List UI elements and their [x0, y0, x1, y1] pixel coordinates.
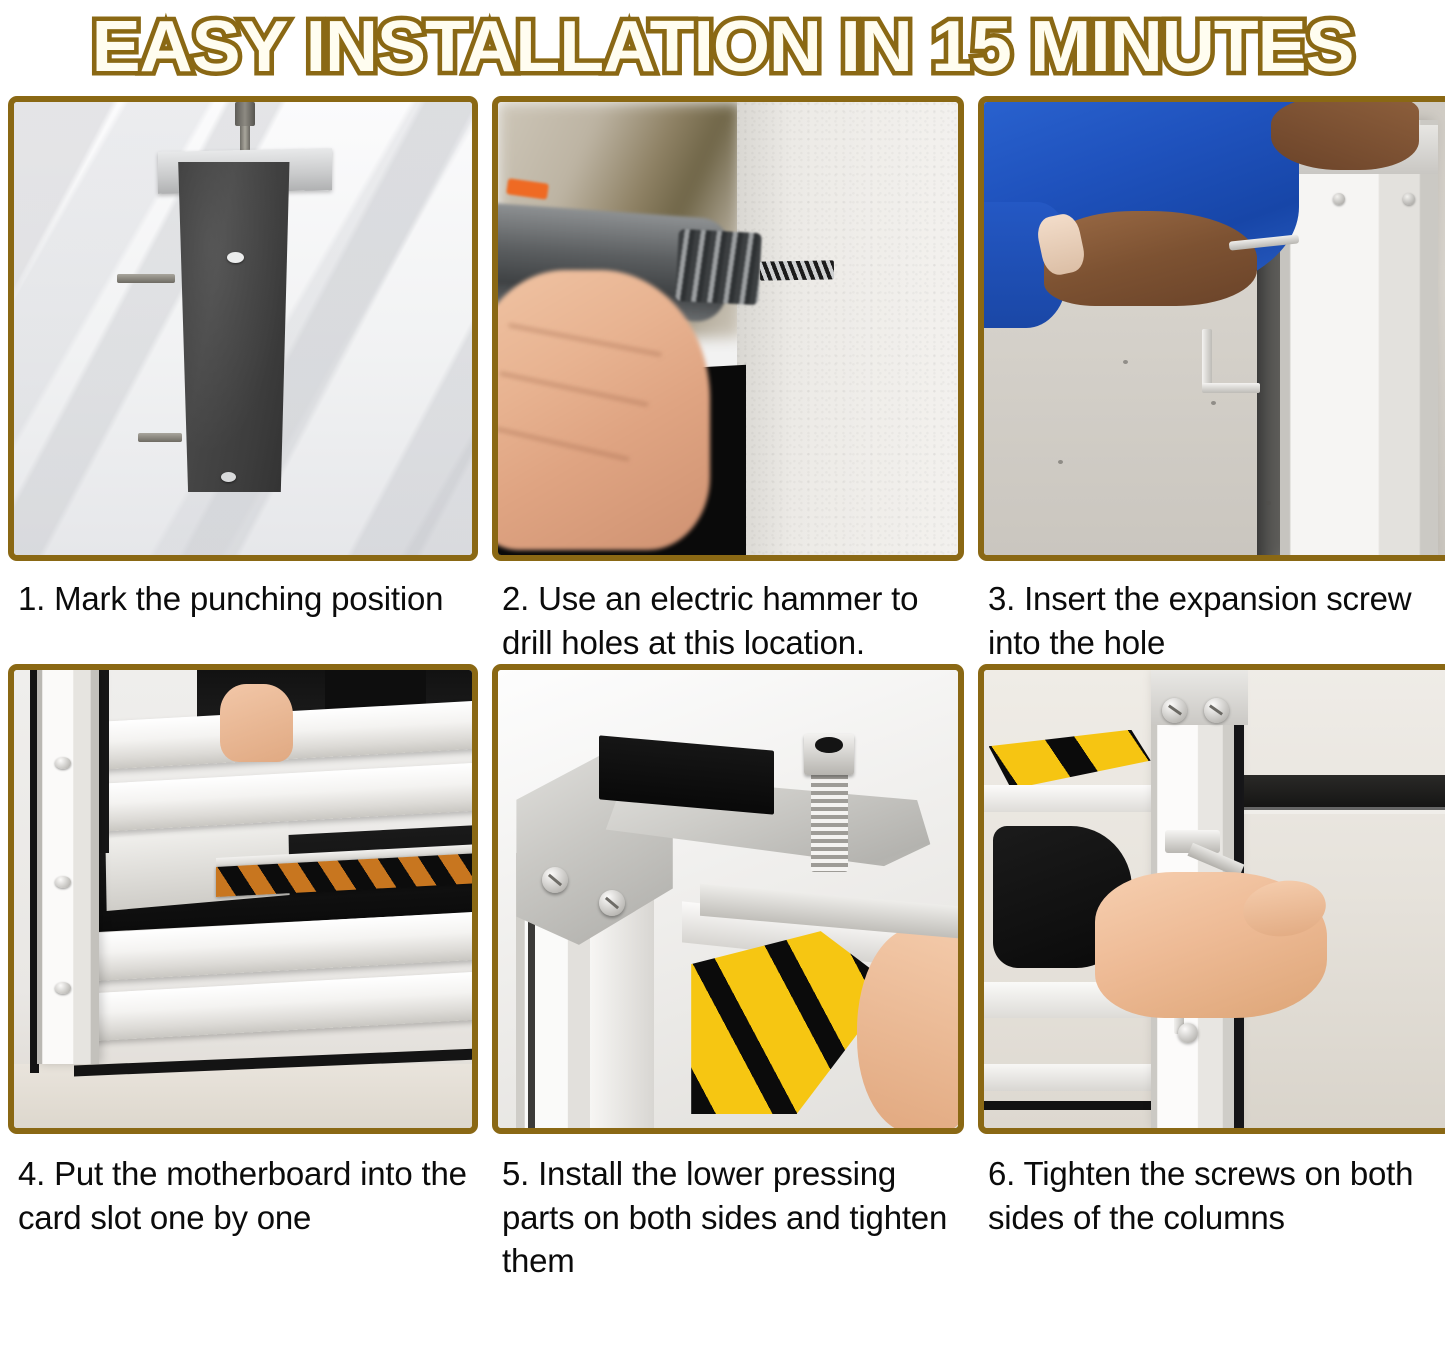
photo-drill-holes [492, 96, 964, 561]
photo-content-1 [14, 102, 472, 555]
drill-chuck [676, 229, 762, 306]
phillips-screw-2 [599, 890, 625, 916]
photo-content-6 [984, 670, 1445, 1128]
step-caption-3: 3. Insert the expansion screw into the h… [978, 561, 1445, 664]
column-inner-gap [99, 670, 110, 853]
photo-mark-punching-position [8, 96, 478, 561]
step-caption-5: 5. Install the lower pressing parts on b… [492, 1134, 964, 1283]
barrier-board-top [984, 785, 1155, 812]
drill-bit [760, 260, 834, 280]
phillips-screw-1 [542, 867, 568, 893]
hand-holding-drill [498, 270, 710, 551]
step-caption-2: 2. Use an electric hammer to drill holes… [492, 561, 964, 664]
photo-content-4 [14, 670, 472, 1128]
upper-arm-right [1271, 102, 1419, 170]
allen-key-long-arm [1202, 329, 1212, 387]
side-bolt-lower [138, 433, 182, 442]
photo-content-2 [498, 102, 958, 555]
side-bolt-upper [117, 274, 175, 283]
plate-screw-3 [1333, 193, 1345, 205]
photo-content-3 [984, 102, 1445, 555]
plate-screw-2 [1204, 698, 1229, 723]
board-seal-line [984, 1101, 1155, 1110]
step-card-1: 1. Mark the punching position [8, 96, 478, 664]
floor-speck-3 [1211, 401, 1216, 405]
title-banner: EASY INSTALLATION IN 15 MINUTES [0, 0, 1445, 92]
baseboard-highlight [1234, 807, 1445, 813]
photo-tighten-column-screws [978, 664, 1445, 1134]
white-column-with-slot [37, 670, 99, 1064]
barrier-board-bottom [984, 1064, 1155, 1091]
photo-insert-boards [8, 664, 478, 1134]
photo-content-5 [498, 670, 958, 1128]
rod-cap [235, 102, 255, 126]
plate-screw-4 [1403, 193, 1415, 205]
step-card-2: 2. Use an electric hammer to drill holes… [492, 96, 964, 664]
textured-white-wall [737, 102, 958, 555]
plate-screw-1 [1162, 698, 1187, 723]
steps-grid: 1. Mark the punching position [0, 96, 1445, 1283]
step-card-4: 4. Put the motherboard into the card slo… [8, 664, 478, 1283]
installation-guide-page: EASY INSTALLATION IN 15 MINUTES 1. Mark … [0, 0, 1445, 1352]
white-aluminum-column [1280, 120, 1437, 555]
step-card-6: 6. Tighten the screws on both sides of t… [978, 664, 1445, 1283]
step-caption-6: 6. Tighten the screws on both sides of t… [978, 1134, 1445, 1239]
step-card-3: 3. Insert the expansion screw into the h… [978, 96, 1445, 664]
step-card-5: 5. Install the lower pressing parts on b… [492, 664, 964, 1283]
column-screw-3 [55, 982, 71, 994]
dark-metal-post [172, 162, 296, 492]
hex-bolt-shaft [811, 771, 848, 872]
step-caption-1: 1. Mark the punching position [8, 561, 478, 621]
step-caption-4: 4. Put the motherboard into the card slo… [8, 1134, 478, 1239]
allen-key-short-arm [1202, 383, 1260, 393]
photo-install-pressing-parts [492, 664, 964, 1134]
dark-baseboard [1234, 775, 1445, 809]
hex-socket [815, 737, 843, 753]
photo-insert-expansion-screw [978, 96, 1445, 561]
floor-speck-2 [1058, 460, 1063, 464]
page-title: EASY INSTALLATION IN 15 MINUTES [92, 6, 1354, 88]
mounting-hole-upper [227, 252, 244, 263]
hand-placing-board [220, 684, 293, 762]
